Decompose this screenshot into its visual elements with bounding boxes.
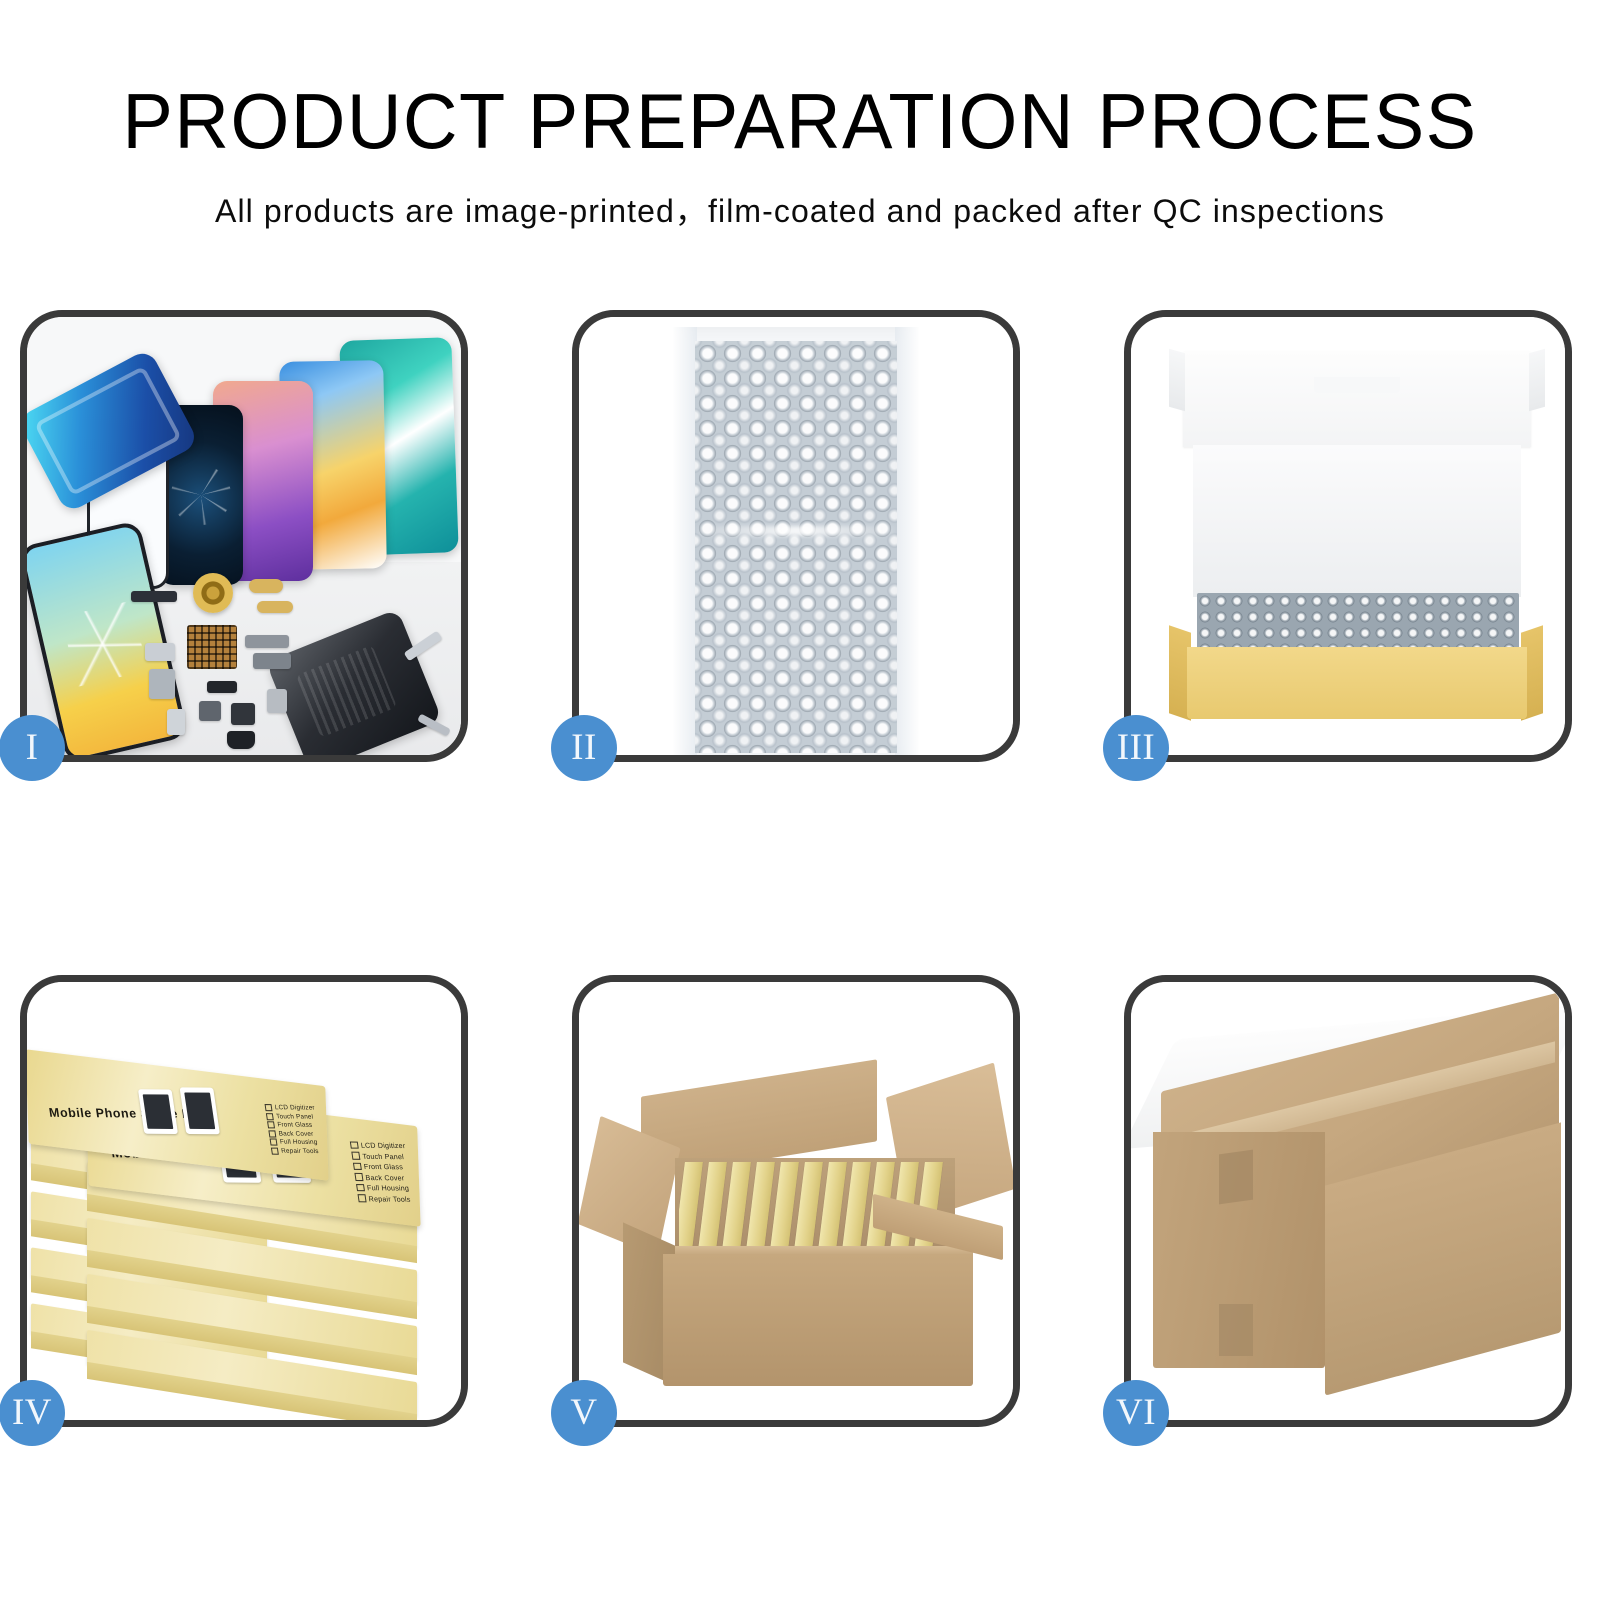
checklist-row: Full Housing — [355, 1183, 411, 1193]
checklist-row: Front Glass — [267, 1121, 318, 1129]
sealed-carton-scene — [1131, 982, 1565, 1420]
spare-part-icon — [207, 681, 237, 693]
box-product-thumbnail — [138, 1090, 178, 1135]
checklist-label: Front Glass — [363, 1162, 403, 1171]
checkbox-icon — [356, 1184, 365, 1192]
checklist-row: LCD Digitizer — [349, 1140, 405, 1150]
checkbox-icon — [268, 1130, 276, 1137]
step-badge-3: III — [1103, 715, 1169, 781]
carton-seam-upper — [1219, 1150, 1253, 1205]
bubble-wrap-sheet — [673, 327, 919, 755]
spare-part-icon — [227, 731, 255, 749]
bubble-wrap-scene — [579, 317, 1013, 755]
process-step-panel-3: III — [1124, 310, 1572, 762]
checklist-row: Touch Panel — [351, 1151, 407, 1161]
spare-part-icon — [257, 601, 293, 613]
step-5-image — [579, 982, 1013, 1420]
box-front-wall — [1187, 647, 1527, 719]
checkbox-icon — [357, 1194, 366, 1202]
step-badge-4: IV — [0, 1380, 65, 1446]
checklist-label: Repair Tools — [367, 1194, 410, 1203]
phone-parts-scene — [27, 317, 461, 755]
checklist-label: Touch Panel — [275, 1113, 313, 1120]
checklist-row: Back Cover — [268, 1130, 319, 1138]
page-title: PRODUCT PREPARATION PROCESS — [24, 82, 1576, 160]
retail-box-checklist: LCD Digitizer Touch Panel Front Glass — [349, 1140, 413, 1203]
bubble-edge-right — [895, 327, 919, 755]
spare-part-icon — [231, 703, 255, 725]
carton-body-front — [663, 1254, 973, 1386]
step-4-image: Mobile Phone Spare Parts LCD Digitizer T… — [27, 982, 461, 1420]
checkbox-icon — [266, 1113, 274, 1120]
step-2-image — [579, 317, 1013, 755]
checkbox-icon — [264, 1104, 272, 1111]
spare-part-icon — [245, 635, 289, 648]
spare-part-icon — [149, 669, 175, 699]
checkbox-icon — [269, 1138, 277, 1145]
checklist-row: Front Glass — [352, 1162, 408, 1172]
checklist-row: Full Housing — [269, 1138, 320, 1146]
ic-chip-icon — [187, 625, 237, 669]
step-3-image — [1131, 317, 1565, 755]
checklist-label: Back Cover — [278, 1130, 314, 1137]
checklist-label: Repair Tools — [280, 1147, 318, 1154]
spare-part-icon — [249, 579, 283, 593]
bubble-edge-left — [673, 327, 697, 755]
checklist-label: Touch Panel — [361, 1151, 404, 1160]
checklist-row: Back Cover — [354, 1172, 410, 1182]
process-step-panel-1: I — [20, 310, 468, 762]
checkbox-icon — [354, 1173, 363, 1181]
spare-part-icon — [131, 591, 177, 602]
wireless-coil-icon — [193, 573, 233, 613]
checklist-label: Front Glass — [277, 1121, 313, 1128]
checklist-row: Repair Tools — [271, 1147, 322, 1155]
process-step-panel-2: II — [572, 310, 1020, 762]
checklist-row: LCD Digitizer — [264, 1104, 315, 1112]
bubble-sheen — [697, 526, 895, 536]
checklist-label: Full Housing — [279, 1139, 318, 1146]
spare-part-icon — [253, 653, 291, 669]
process-step-panel-5: V — [572, 975, 1020, 1427]
step-badge-2: II — [551, 715, 617, 781]
open-carton-scene — [579, 982, 1013, 1420]
spare-part-icon — [199, 701, 221, 721]
checklist-label: LCD Digitizer — [360, 1141, 406, 1151]
header: PRODUCT PREPARATION PROCESS All products… — [0, 0, 1600, 232]
checkbox-icon — [271, 1147, 279, 1154]
bubble-wrapped-product — [1197, 593, 1519, 651]
step-badge-1: I — [0, 715, 65, 781]
checklist-row: Repair Tools — [357, 1194, 413, 1204]
step-badge-6: VI — [1103, 1380, 1169, 1446]
carton-seam-lower — [1219, 1304, 1253, 1356]
checklist-label: Full Housing — [366, 1183, 409, 1192]
checkbox-icon — [351, 1152, 360, 1160]
box-lid — [1183, 351, 1531, 447]
page-subtitle: All products are image-printed，film-coat… — [0, 186, 1600, 232]
checklist-label: LCD Digitizer — [274, 1104, 315, 1111]
box-lid-tab — [1314, 377, 1400, 393]
box-back-wall — [1193, 445, 1521, 597]
process-step-grid: I II — [20, 310, 1580, 1427]
retail-box-checklist: LCD Digitizer Touch Panel Front Glass — [264, 1104, 321, 1155]
process-step-panel-6: VI — [1124, 975, 1572, 1427]
spare-part-icon — [145, 643, 175, 661]
spare-part-icon — [267, 689, 287, 713]
checklist-label: Back Cover — [364, 1172, 404, 1181]
box-product-thumbnail — [180, 1087, 220, 1134]
inner-box-scene — [1131, 317, 1565, 755]
checkbox-icon — [352, 1162, 361, 1170]
bubble-grid — [695, 341, 897, 753]
step-badge-5: V — [551, 1380, 617, 1446]
step-6-image — [1131, 982, 1565, 1420]
checkbox-icon — [349, 1141, 358, 1149]
checklist-row: Touch Panel — [266, 1113, 317, 1121]
checkbox-icon — [267, 1121, 275, 1128]
spare-part-icon — [167, 709, 185, 735]
step-1-image — [27, 317, 461, 755]
process-step-panel-4: Mobile Phone Spare Parts LCD Digitizer T… — [20, 975, 468, 1427]
retail-box-stack-scene: Mobile Phone Spare Parts LCD Digitizer T… — [27, 982, 461, 1420]
